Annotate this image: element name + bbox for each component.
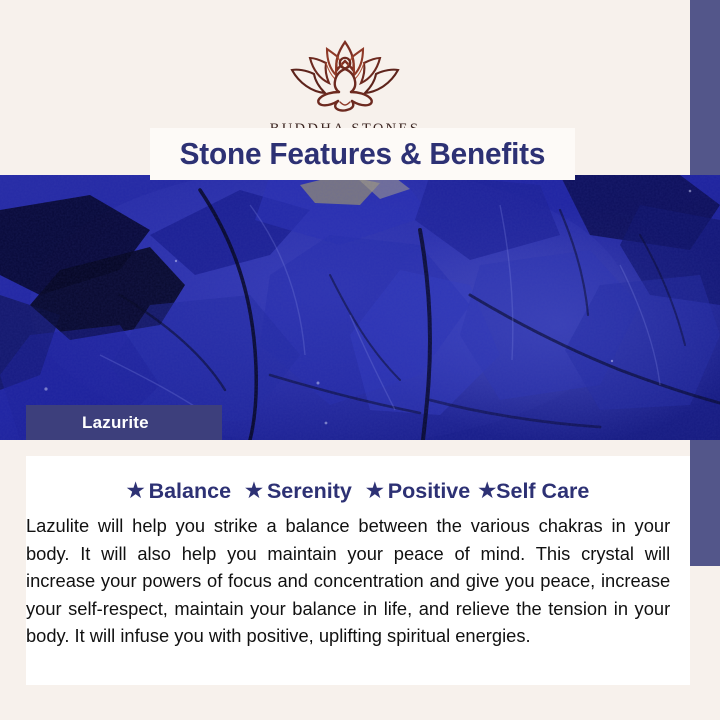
benefit-positive: ★ Positive <box>366 479 470 504</box>
benefit-self-care: ★ Self Care <box>478 479 589 504</box>
star-icon: ★ <box>478 481 496 501</box>
benefit-label: Serenity <box>267 479 352 504</box>
star-icon: ★ <box>366 481 384 501</box>
stone-name: Lazurite <box>82 413 149 433</box>
benefits-row: ★ Balance ★ Serenity ★ Positive ★ Self C… <box>26 474 690 508</box>
benefit-serenity: ★ Serenity <box>245 479 352 504</box>
stone-name-badge: Lazurite <box>26 405 222 440</box>
benefit-label: Balance <box>149 479 231 504</box>
benefit-label: Positive <box>388 479 470 504</box>
page-title: Stone Features & Benefits <box>180 136 546 172</box>
benefit-balance: ★ Balance <box>127 479 231 504</box>
star-icon: ★ <box>127 481 145 501</box>
lotus-meditation-logo-icon <box>270 36 420 117</box>
star-icon: ★ <box>245 481 263 501</box>
stone-description: Lazulite will help you strike a balance … <box>26 512 676 650</box>
content-panel-top-strip <box>26 440 690 456</box>
benefit-label: Self Care <box>496 479 589 504</box>
stone-photo: Lazurite <box>0 175 720 440</box>
title-banner: Stone Features & Benefits <box>150 128 575 180</box>
